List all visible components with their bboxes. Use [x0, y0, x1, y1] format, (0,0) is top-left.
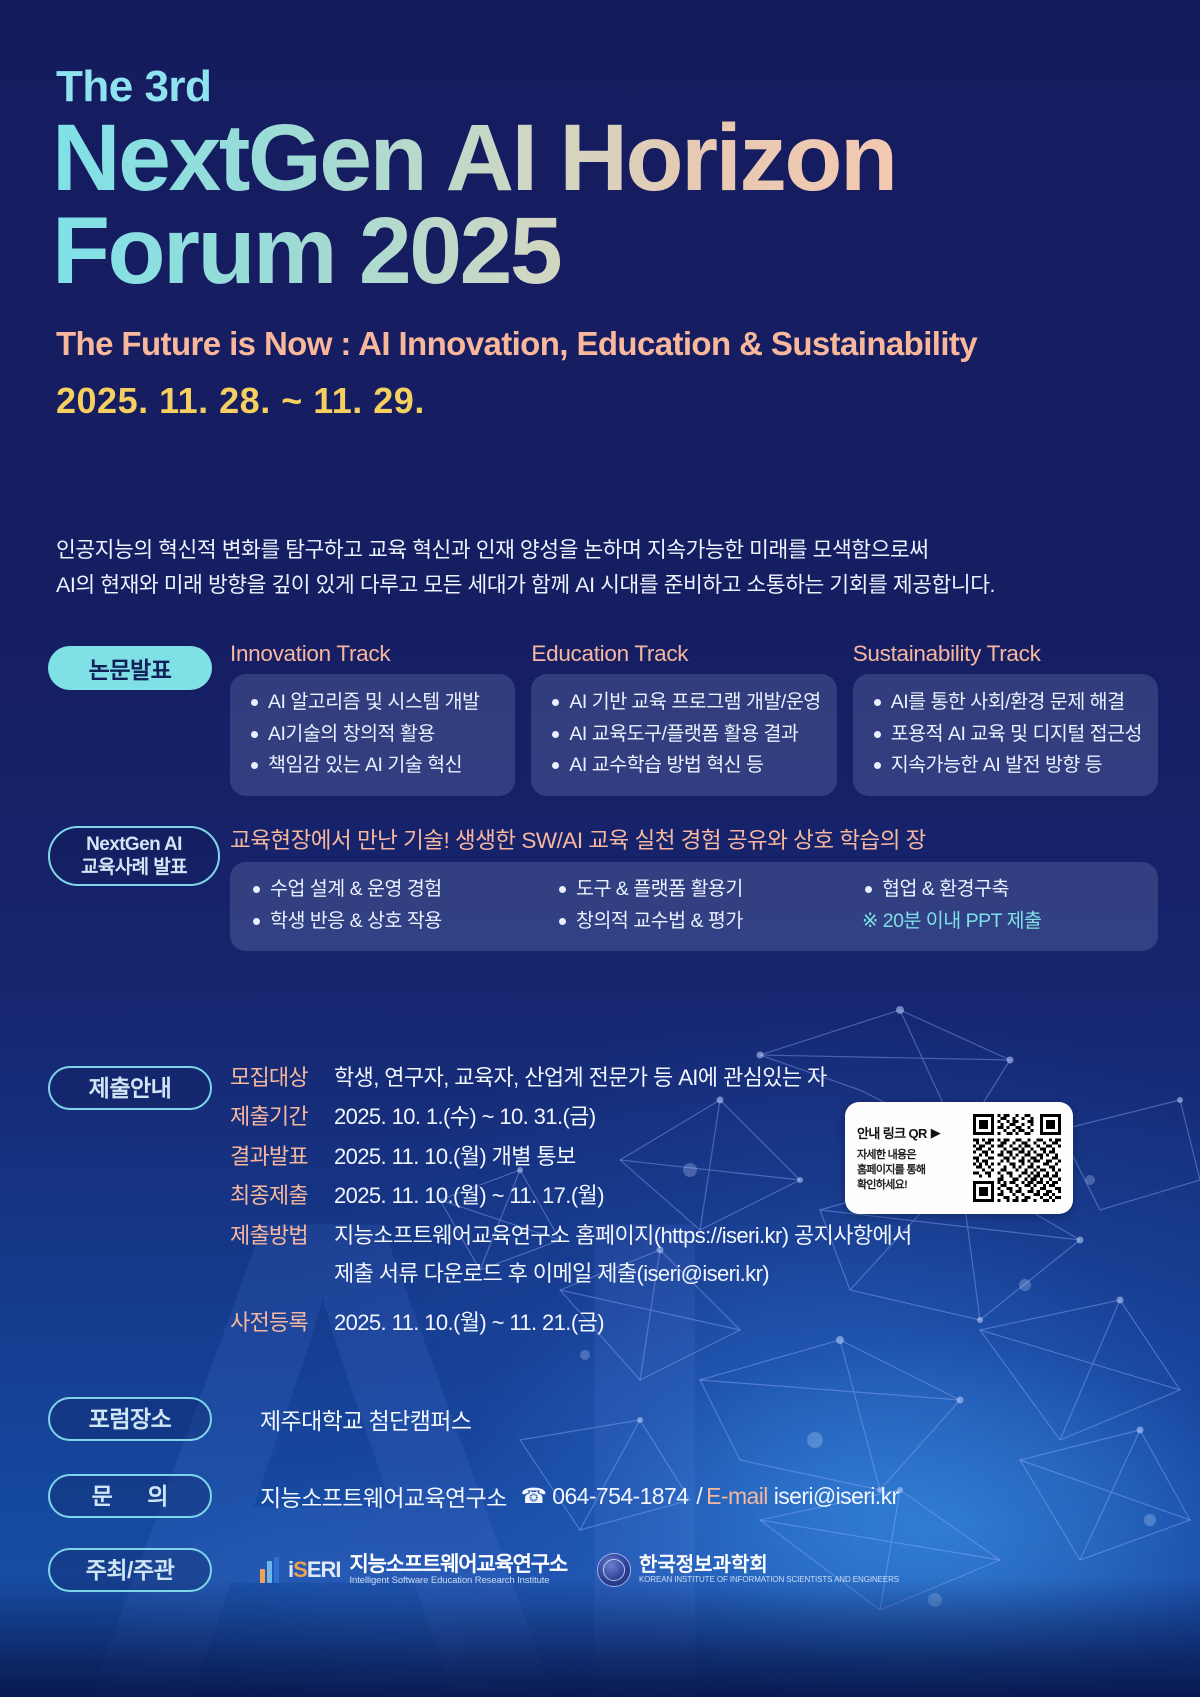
badge-contact: 문 의: [48, 1474, 212, 1518]
qr-info-card[interactable]: 안내 링크 QR ▶ 자세한 내용은 홈페이지를 통해 확인하세요!: [845, 1102, 1073, 1214]
track-title: Education Track: [531, 641, 836, 667]
track-list: Innovation Track AI 알고리즘 및 시스템 개발 AI기술의 …: [230, 641, 1158, 796]
case-column-2: 도구 & 플랫폼 활용기 창의적 교수법 & 평가: [554, 874, 860, 937]
submission-label: 제출기간: [230, 1099, 334, 1131]
case-item: 학생 반응 & 상호 작용: [248, 906, 554, 938]
submission-value: 2025. 11. 10.(월) ~ 11. 17.(월): [334, 1179, 604, 1212]
submission-rows: 모집대상 학생, 연구자, 교육자, 산업계 전문가 등 AI에 관심있는 자 …: [230, 1060, 930, 1344]
track-items: AI를 통한 사회/환경 문제 해결 포용적 AI 교육 및 디지털 접근성 지…: [869, 687, 1142, 782]
track-item: 지속가능한 AI 발전 방향 등: [869, 750, 1142, 782]
submission-label: 모집대상: [230, 1060, 334, 1092]
qr-text-block: 안내 링크 QR ▶ 자세한 내용은 홈페이지를 통해 확인하세요!: [857, 1123, 973, 1193]
track-box: AI를 통한 사회/환경 문제 해결 포용적 AI 교육 및 디지털 접근성 지…: [853, 674, 1158, 796]
kiise-seal-icon: [597, 1553, 631, 1587]
track-items: AI 기반 교육 프로그램 개발/운영 AI 교육도구/플랫폼 활용 결과 AI…: [547, 687, 820, 782]
submission-value: 학생, 연구자, 교육자, 산업계 전문가 등 AI에 관심있는 자: [334, 1061, 827, 1094]
kiise-name-en: KOREAN INSTITUTE OF INFORMATION SCIENTIS…: [639, 1576, 899, 1585]
kiise-name-ko: 한국정보과학회: [639, 1555, 899, 1577]
contact-separator: /: [696, 1483, 702, 1510]
track-title: Sustainability Track: [853, 641, 1158, 667]
event-subtitle: The Future is Now : AI Innovation, Educa…: [56, 325, 977, 363]
badge-venue: 포럼장소: [48, 1397, 212, 1441]
telephone-icon: ☎: [521, 1484, 547, 1509]
iseri-bars-icon: [260, 1557, 279, 1583]
case-item: 도구 & 플랫폼 활용기: [554, 874, 860, 906]
track-item: AI 알고리즘 및 시스템 개발: [246, 687, 499, 719]
spacer: [230, 1291, 930, 1305]
qr-note-line-1: 자세한 내용은: [857, 1148, 973, 1163]
badge-paper-presentation: 논문발표: [48, 646, 212, 690]
track-sustainability: Sustainability Track AI를 통한 사회/환경 문제 해결 …: [853, 641, 1158, 796]
badge-host: 주최/주관: [48, 1548, 212, 1592]
submission-row-final: 최종제출 2025. 11. 10.(월) ~ 11. 17.(월): [230, 1178, 930, 1212]
track-innovation: Innovation Track AI 알고리즘 및 시스템 개발 AI기술의 …: [230, 641, 515, 796]
logo-kiise: 한국정보과학회 KOREAN INSTITUTE OF INFORMATION …: [597, 1553, 899, 1587]
iseri-name-ko: 지능소프트웨어교육연구소: [350, 1554, 567, 1577]
track-item: 책임감 있는 AI 기술 혁신: [246, 750, 499, 782]
submission-value: 2025. 10. 1.(수) ~ 10. 31.(금): [334, 1100, 596, 1133]
contact-email[interactable]: iseri@iseri.kr: [774, 1483, 899, 1510]
case-ppt-note: ※ 20분 이내 PPT 제출: [860, 906, 1140, 938]
track-box: AI 기반 교육 프로그램 개발/운영 AI 교육도구/플랫폼 활용 결과 AI…: [531, 674, 836, 796]
submission-label: 최종제출: [230, 1178, 334, 1210]
contact-text: 지능소프트웨어교육연구소 ☎ 064-754-1874 / E-mail ise…: [260, 1479, 899, 1513]
event-date: 2025. 11. 28. ~ 11. 29.: [56, 380, 425, 422]
qr-code-image[interactable]: [973, 1114, 1061, 1202]
submission-value: 지능소프트웨어교육연구소 홈페이지(https://iseri.kr) 공지사항…: [334, 1219, 912, 1252]
track-box: AI 알고리즘 및 시스템 개발 AI기술의 창의적 활용 책임감 있는 AI …: [230, 674, 515, 796]
qr-heading-label: 안내 링크 QR: [857, 1123, 927, 1142]
qr-note: 자세한 내용은 홈페이지를 통해 확인하세요!: [857, 1148, 973, 1193]
page-title: NextGen AI Horizon Forum 2025: [52, 112, 896, 298]
email-label: E-mail: [706, 1483, 768, 1510]
case-headline: 교육현장에서 만난 기술! 생생한 SW/AI 교육 실천 경험 공유와 상호 …: [230, 823, 926, 855]
venue-text: 제주대학교 첨단캠퍼스: [260, 1402, 471, 1436]
case-column-3: 협업 & 환경구축 ※ 20분 이내 PPT 제출: [860, 874, 1140, 937]
badge-education-case: NextGen AI 교육사례 발표: [48, 826, 220, 886]
submission-row-method: 제출방법 지능소프트웨어교육연구소 홈페이지(https://iseri.kr)…: [230, 1218, 930, 1252]
submission-label: 결과발표: [230, 1139, 334, 1171]
case-item: 창의적 교수법 & 평가: [554, 906, 860, 938]
organizer-logos: iSERI 지능소프트웨어교육연구소 Intelligent Software …: [260, 1553, 899, 1587]
iseri-name-en: Intelligent Software Education Research …: [350, 1576, 567, 1586]
track-title: Innovation Track: [230, 641, 515, 667]
submission-row-period: 제출기간 2025. 10. 1.(수) ~ 10. 31.(금): [230, 1099, 930, 1133]
qr-note-line-2: 홈페이지를 통해: [857, 1163, 973, 1178]
badge-line-2: 교육사례 발표: [81, 856, 187, 879]
intro-line-1: 인공지능의 혁신적 변화를 탐구하고 교육 혁신과 인재 양성을 논하며 지속가…: [56, 533, 1066, 568]
iseri-names: 지능소프트웨어교육연구소 Intelligent Software Educat…: [350, 1554, 567, 1587]
submission-method-continued: 제출 서류 다운로드 후 이메일 제출(iseri@iseri.kr): [334, 1257, 930, 1290]
footer-venue-row: 포럼장소 제주대학교 첨단캠퍼스: [48, 1397, 471, 1441]
track-item: AI 교수학습 방법 혁신 등: [547, 750, 820, 782]
submission-value: 2025. 11. 10.(월) 개별 통보: [334, 1140, 576, 1173]
submission-value: 2025. 11. 10.(월) ~ 11. 21.(금): [334, 1306, 604, 1339]
submission-label: 사전등록: [230, 1305, 334, 1337]
track-item: AI를 통한 사회/환경 문제 해결: [869, 687, 1142, 719]
logo-iseri: iSERI 지능소프트웨어교육연구소 Intelligent Software …: [260, 1554, 567, 1587]
track-item: AI 교육도구/플랫폼 활용 결과: [547, 719, 820, 751]
badge-line-1: NextGen AI: [86, 833, 182, 856]
submission-label: 제출방법: [230, 1218, 334, 1250]
contact-org: 지능소프트웨어교육연구소: [260, 1479, 507, 1513]
track-item: 포용적 AI 교육 및 디지털 접근성: [869, 719, 1142, 751]
badge-submission-info: 제출안내: [48, 1066, 212, 1110]
case-items: 협업 & 환경구축: [860, 874, 1140, 906]
track-items: AI 알고리즘 및 시스템 개발 AI기술의 창의적 활용 책임감 있는 AI …: [246, 687, 499, 782]
intro-line-2: AI의 현재와 미래 방향을 깊이 있게 다루고 모든 세대가 함께 AI 시대…: [56, 568, 1066, 603]
case-column-1: 수업 설계 & 운영 경험 학생 반응 & 상호 작용: [248, 874, 554, 937]
intro-paragraph: 인공지능의 혁신적 변화를 탐구하고 교육 혁신과 인재 양성을 논하며 지속가…: [56, 533, 1066, 603]
play-triangle-icon: ▶: [931, 1125, 940, 1141]
qr-heading-row: 안내 링크 QR ▶: [857, 1123, 973, 1142]
footer-contact-row: 문 의 지능소프트웨어교육연구소 ☎ 064-754-1874 / E-mail…: [48, 1474, 899, 1518]
track-item: AI 기반 교육 프로그램 개발/운영: [547, 687, 820, 719]
poster-root: AI: [0, 0, 1200, 1697]
track-education: Education Track AI 기반 교육 프로그램 개발/운영 AI 교…: [531, 641, 836, 796]
iseri-wordmark: iSERI: [288, 1557, 341, 1583]
qr-note-line-3: 확인하세요!: [857, 1178, 973, 1193]
submission-row-target: 모집대상 학생, 연구자, 교육자, 산업계 전문가 등 AI에 관심있는 자: [230, 1060, 930, 1094]
bottom-fade-overlay: [0, 1577, 1200, 1697]
case-items: 도구 & 플랫폼 활용기 창의적 교수법 & 평가: [554, 874, 860, 937]
submission-row-prereg: 사전등록 2025. 11. 10.(월) ~ 11. 21.(금): [230, 1305, 930, 1339]
track-item: AI기술의 창의적 활용: [246, 719, 499, 751]
case-box: 수업 설계 & 운영 경험 학생 반응 & 상호 작용 도구 & 플랫폼 활용기…: [230, 862, 1158, 951]
kiise-names: 한국정보과학회 KOREAN INSTITUTE OF INFORMATION …: [639, 1555, 899, 1585]
submission-row-results: 결과발표 2025. 11. 10.(월) 개별 통보: [230, 1139, 930, 1173]
case-item: 수업 설계 & 운영 경험: [248, 874, 554, 906]
case-items: 수업 설계 & 운영 경험 학생 반응 & 상호 작용: [248, 874, 554, 937]
contact-phone[interactable]: 064-754-1874: [552, 1483, 688, 1510]
footer-host-row: 주최/주관 iSERI 지능소프트웨어교육연구소 Intelligent Sof…: [48, 1548, 899, 1592]
case-item: 협업 & 환경구축: [860, 874, 1140, 906]
